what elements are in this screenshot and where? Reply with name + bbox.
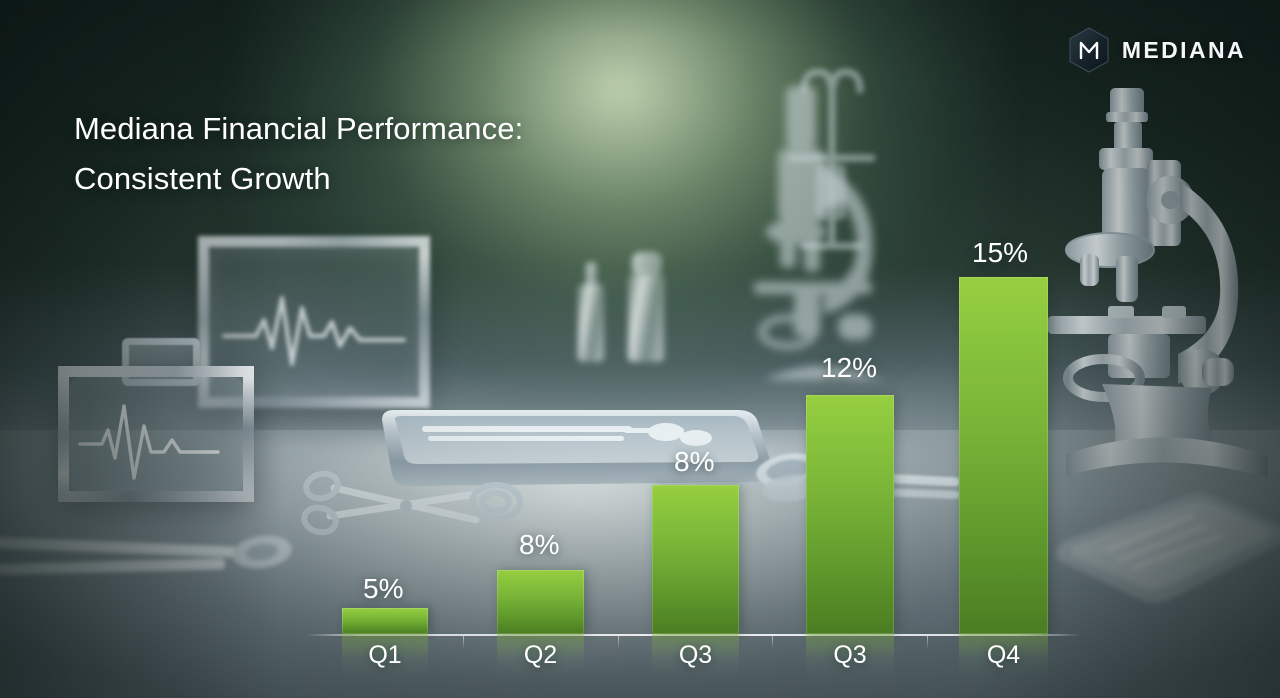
chart-axis-tick [772,636,773,649]
chart-bar-value-label: 8% [674,446,714,478]
slide-canvas: Mediana Financial Performance: Consisten… [0,0,1280,698]
chart-bar[interactable] [497,570,584,634]
chart-category-label: Q3 [652,641,739,670]
chart-bar-value-label: 8% [519,529,559,561]
chart-axis-tick [927,636,928,649]
chart-axis-tick [618,636,619,649]
chart-bar-value-label: 15% [972,237,1028,269]
chart-category-label: Q1 [342,641,428,670]
chart-category-label: Q3 [806,641,894,670]
chart-bar[interactable] [342,608,428,634]
chart-bar[interactable] [806,395,894,634]
bar-chart: 5%Q18%Q28%Q312%Q315%Q4 [0,0,1280,698]
chart-category-label: Q4 [959,641,1048,670]
chart-bar[interactable] [652,485,739,634]
chart-category-label: Q2 [497,641,584,670]
chart-axis-tick [463,636,464,649]
chart-bar-value-label: 5% [363,573,403,605]
chart-bar[interactable] [959,277,1048,634]
chart-bar-value-label: 12% [821,352,877,384]
chart-axis-line [306,634,1080,636]
